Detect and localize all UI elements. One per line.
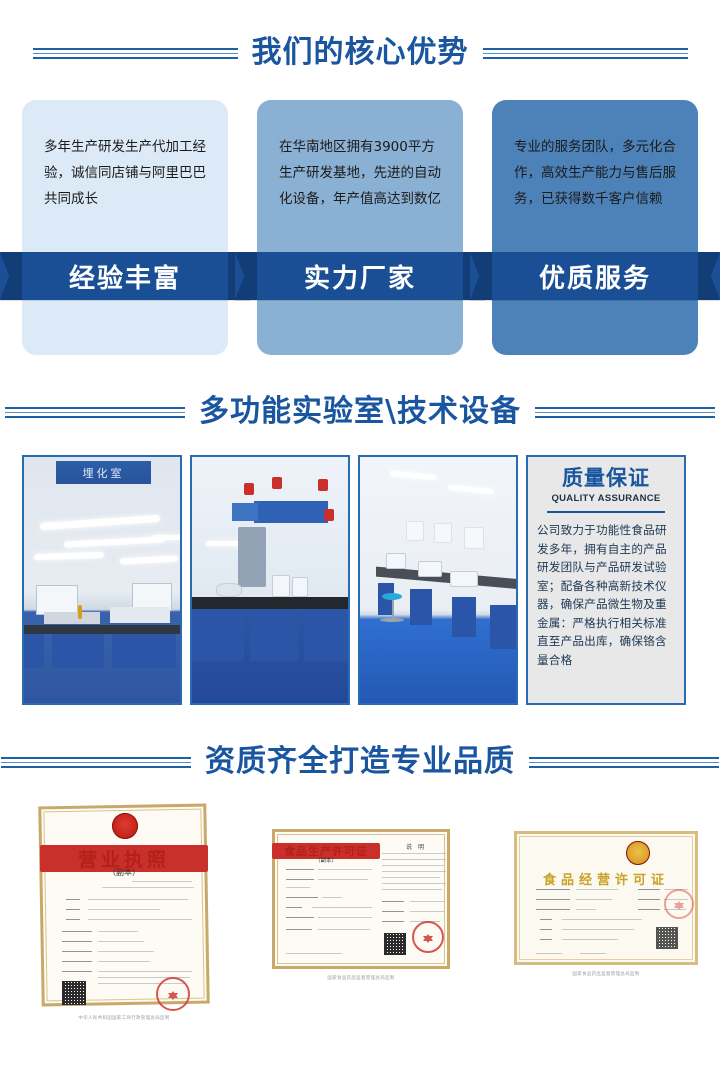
- divider: [547, 511, 665, 513]
- glassware: [216, 583, 242, 597]
- rule-line: [483, 57, 688, 59]
- certificate-subtitle: （副本）: [40, 867, 208, 878]
- rule-line: [529, 762, 719, 763]
- drying-rack: [238, 527, 266, 587]
- bench-top: [24, 625, 180, 634]
- qr-code: [62, 981, 86, 1005]
- rule-line: [5, 416, 185, 418]
- quality-assurance-card: 质量保证 QUALITY ASSURANCE 公司致力于功能性食品研发多年，拥有…: [526, 455, 686, 705]
- valve: [324, 509, 334, 521]
- ceiling-light: [152, 535, 182, 540]
- quality-assurance-text: 公司致力于功能性食品研发多年，拥有自主的产品研发团队与产品研发试验室；配备各种高…: [537, 521, 675, 669]
- rule-line: [1, 762, 191, 763]
- advantage-card-text: 多年生产研发生产代加工经验，诚信同店铺与阿里巴巴共同成长: [22, 100, 228, 212]
- certificates-heading: 资质齐全打造专业品质: [0, 747, 720, 777]
- lab-gallery: 埋化室: [0, 455, 720, 705]
- certificate-food-production[interactable]: 食品生产许可证 （副本） 说 明 国家食品药品监督管: [272, 829, 450, 969]
- wall-cabinet: [36, 585, 78, 615]
- advantage-card-banner: 实力厂家: [235, 252, 485, 300]
- bench-cabinet: [452, 597, 476, 637]
- national-emblem-icon: [112, 813, 138, 839]
- rule-line: [529, 757, 719, 759]
- bench-cabinet: [192, 609, 244, 661]
- wall-note: [434, 523, 452, 543]
- bench-cabinet: [410, 589, 432, 625]
- rule-line: [483, 48, 688, 50]
- advantage-card[interactable]: 在华南地区拥有3900平方生产研发基地，先进的自动化设备，年产值高达到数亿 实力…: [257, 100, 463, 355]
- lab-section: 多功能实验室\技术设备 埋化室: [0, 355, 720, 705]
- certificate-title: 食品经营许可证: [514, 869, 698, 888]
- advantages-section: 我们的核心优势 多年生产研发生产代加工经验，诚信同店铺与阿里巴巴共同成长 经验丰…: [0, 0, 720, 355]
- bench-cabinet: [304, 609, 350, 661]
- bench-cabinet: [24, 634, 44, 668]
- advantage-card-list: 多年生产研发生产代加工经验，诚信同店铺与阿里巴巴共同成长 经验丰富 在华南地区拥…: [0, 100, 720, 355]
- rule-line: [1, 757, 191, 759]
- reagent-shelf: [110, 607, 170, 623]
- certificate-list: 营业执照 （副本） 中华人民共和国国家工商行政管理总局监制 食: [0, 805, 720, 1005]
- rule-line: [535, 416, 715, 418]
- heading-rule-right: [483, 48, 688, 59]
- bench-cabinet: [490, 605, 516, 649]
- quality-assurance-subtitle: QUALITY ASSURANCE: [537, 493, 675, 504]
- wall-note: [406, 521, 424, 541]
- heading-rule-left: [1, 757, 191, 768]
- lab-instrument: [418, 561, 442, 577]
- advantage-card[interactable]: 多年生产研发生产代加工经验，诚信同店铺与阿里巴巴共同成长 经验丰富: [22, 100, 228, 355]
- official-stamp-icon: [664, 889, 694, 919]
- lab-heading: 多功能实验室\技术设备: [0, 397, 720, 427]
- lab-instrument: [386, 553, 406, 569]
- certificate-subtitle: （副本）: [272, 856, 380, 864]
- advantage-card-banner: 经验丰富: [0, 252, 250, 300]
- section-title: 多功能实验室\技术设备: [185, 397, 535, 427]
- quality-assurance-title: 质量保证: [537, 467, 675, 490]
- advantage-card[interactable]: 专业的服务团队，多元化合作，高效生产能力与售后服务，已获得数千客户信赖 优质服务: [492, 100, 698, 355]
- lab-instrument: [450, 571, 478, 587]
- advantage-card-banner: 优质服务: [470, 252, 720, 300]
- rule-line: [1, 766, 191, 768]
- certificates-section: 资质齐全打造专业品质 营业执照 （副本）: [0, 705, 720, 1005]
- official-stamp-icon: [156, 977, 190, 1011]
- heading-rule-left: [33, 48, 238, 59]
- bottle: [292, 577, 308, 597]
- heading-rule-left: [5, 407, 185, 418]
- heading-rule-right: [529, 757, 719, 768]
- bench-top: [192, 597, 350, 609]
- rule-line: [5, 412, 185, 413]
- certificate-food-business[interactable]: 食品经营许可证 国家食品药品监督管理总局监制: [514, 831, 698, 965]
- certificate-caption: 中华人民共和国国家工商行政管理总局监制: [40, 1015, 208, 1021]
- bottle: [272, 575, 290, 597]
- advantages-heading: 我们的核心优势: [0, 38, 720, 68]
- qr-code: [384, 933, 406, 955]
- bench-cabinet: [52, 634, 104, 668]
- certificate-caption: 国家食品药品监督管理总局监制: [514, 971, 698, 977]
- qr-code: [656, 927, 678, 949]
- rule-line: [535, 407, 715, 409]
- certificate-caption: 国家食品药品监督管理总局监制: [272, 975, 450, 981]
- wall-note: [464, 527, 484, 549]
- rule-line: [33, 57, 238, 59]
- lab-photo-benchware[interactable]: [190, 455, 350, 705]
- advantage-card-text: 在华南地区拥有3900平方生产研发基地，先进的自动化设备，年产值高达到数亿: [257, 100, 463, 212]
- fume-hood: [232, 503, 258, 521]
- lab-photo-physchem[interactable]: 埋化室: [22, 455, 182, 705]
- rule-line: [483, 53, 688, 54]
- section-title: 资质齐全打造专业品质: [191, 747, 529, 777]
- valve: [272, 477, 282, 489]
- valve: [318, 479, 328, 491]
- apparatus: [78, 605, 82, 619]
- rule-line: [33, 53, 238, 54]
- bench-cabinet: [112, 634, 176, 668]
- bench-cabinet: [250, 609, 298, 661]
- photo-scene: [192, 457, 348, 703]
- page-title: 我们的核心优势: [238, 38, 483, 68]
- advantage-card-text: 专业的服务团队，多元化合作，高效生产能力与售后服务，已获得数千客户信赖: [492, 100, 698, 212]
- official-stamp-icon: [412, 921, 444, 953]
- lab-room-sign: 埋化室: [56, 461, 151, 484]
- rule-line: [535, 412, 715, 413]
- certificate-business-license[interactable]: 营业执照 （副本） 中华人民共和国国家工商行政管理总局监制: [40, 805, 208, 1005]
- rule-line: [529, 766, 719, 768]
- sink: [44, 612, 100, 624]
- valve: [244, 483, 254, 495]
- national-emblem-icon: [626, 841, 650, 865]
- lab-stool: [382, 593, 404, 622]
- lab-photo-instrument-room[interactable]: [358, 455, 518, 705]
- fume-hood: [254, 501, 328, 523]
- certificate-note: 说 明: [380, 842, 450, 851]
- rule-line: [33, 48, 238, 50]
- rule-line: [5, 407, 185, 409]
- heading-rule-right: [535, 407, 715, 418]
